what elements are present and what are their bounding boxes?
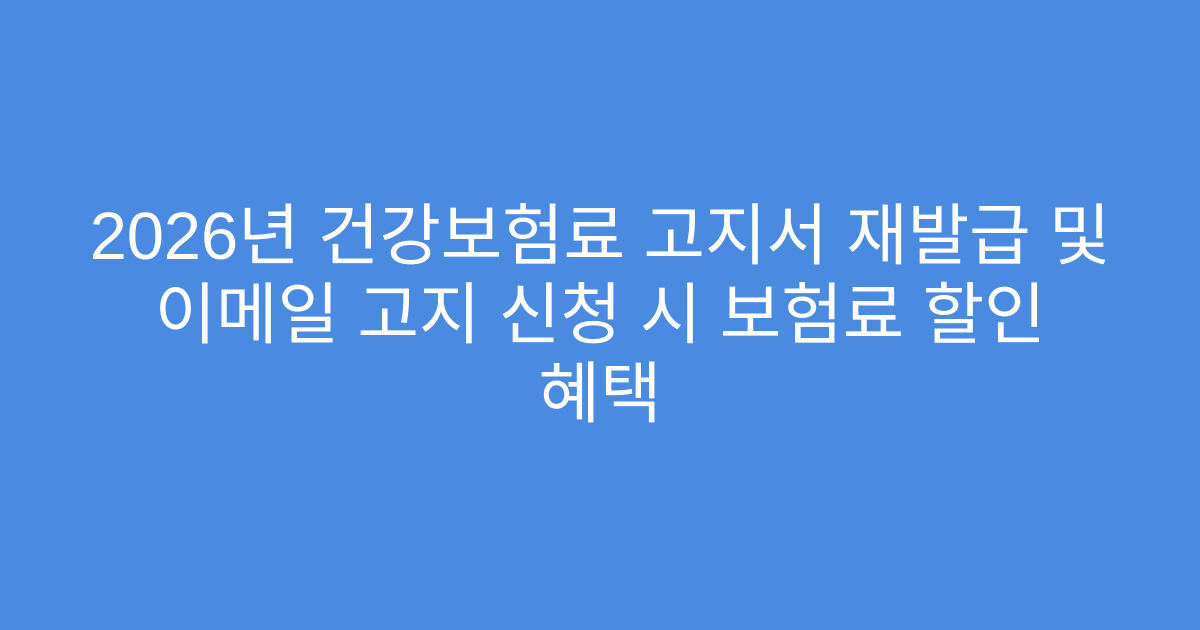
page-title: 2026년 건강보험료 고지서 재발급 및 이메일 고지 신청 시 보험료 할인… <box>88 197 1112 434</box>
title-block: 2026년 건강보험료 고지서 재발급 및 이메일 고지 신청 시 보험료 할인… <box>80 197 1120 434</box>
og-card: 2026년 건강보험료 고지서 재발급 및 이메일 고지 신청 시 보험료 할인… <box>0 0 1200 630</box>
